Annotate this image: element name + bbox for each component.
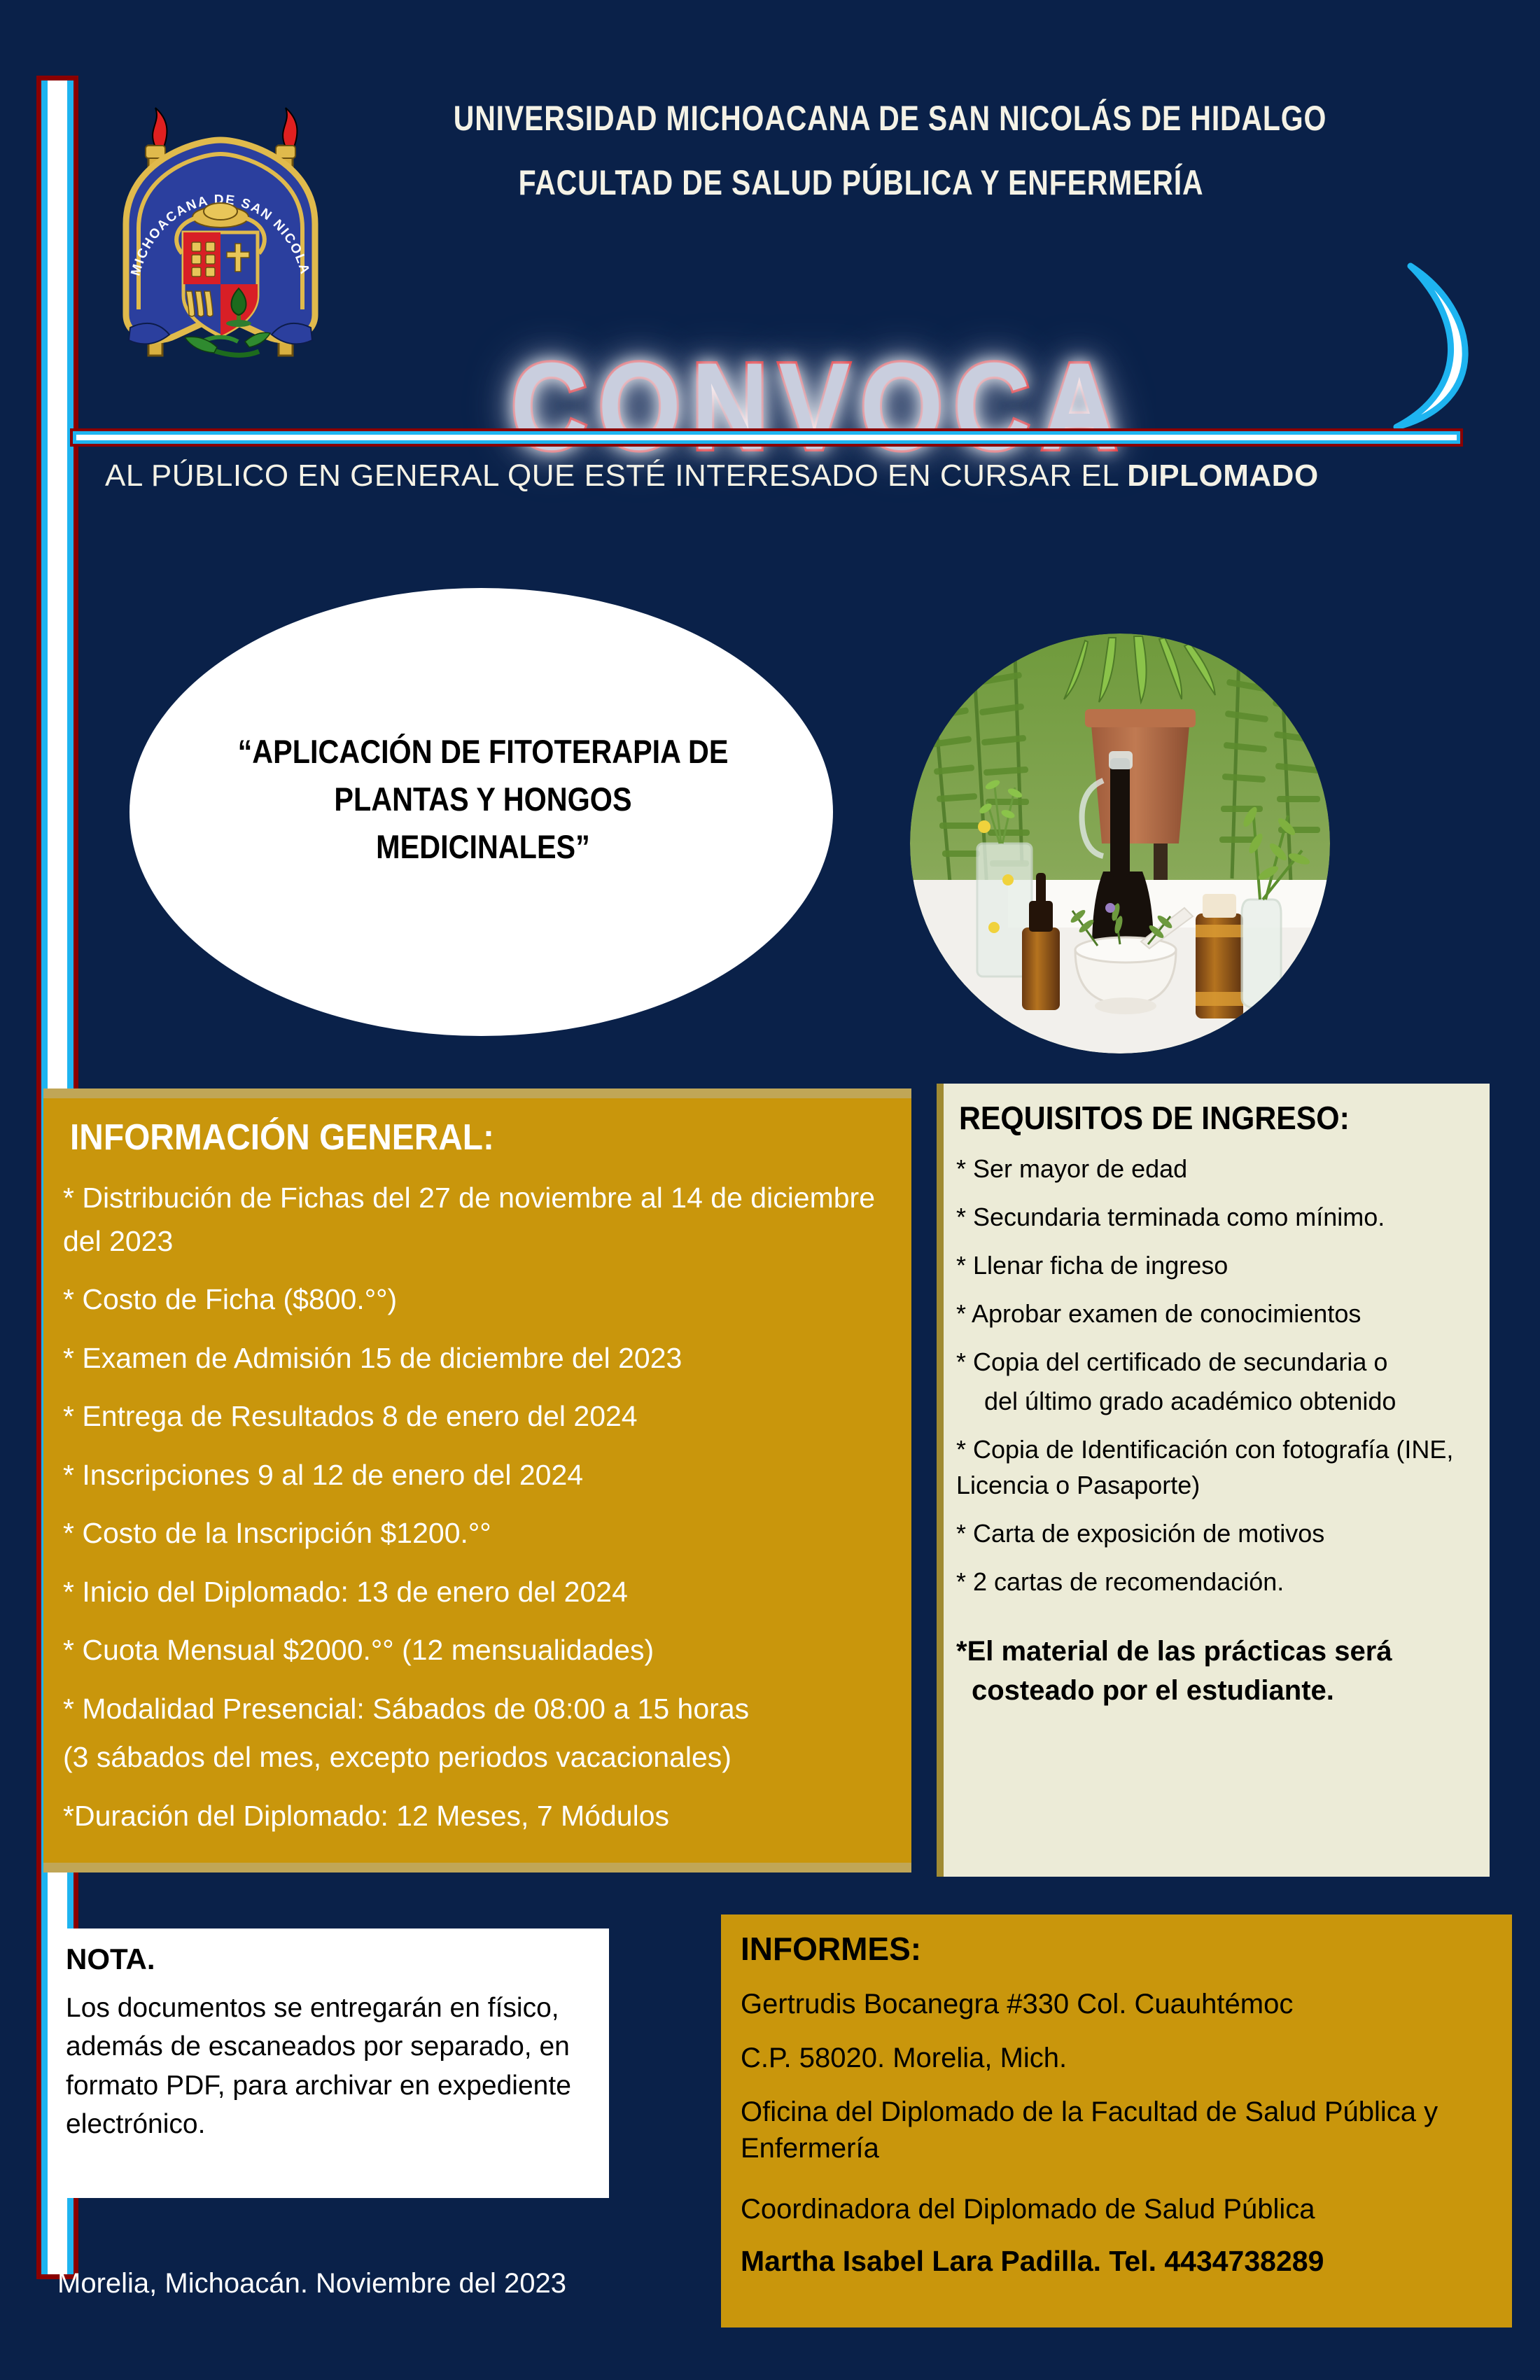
subtitle-strong: DIPLOMADO [1127, 458, 1318, 493]
requirement-item: * Carta de exposición de motivos [956, 1515, 1474, 1551]
course-title-line-3: MEDICINALES” [199, 823, 766, 871]
general-info-item: * Distribución de Fichas del 27 de novie… [63, 1177, 892, 1263]
general-info-item: (3 sábados del mes, excepto periodos vac… [63, 1736, 892, 1779]
general-info-item: *Duración del Diplomado: 12 Meses, 7 Mód… [63, 1795, 892, 1838]
footer-place-date: Morelia, Michoacán. Noviembre del 2023 [57, 2268, 566, 2299]
requirement-item: * Copia del certificado de secundaria o [956, 1344, 1474, 1380]
informes-office: Oficina del Diplomado de la Facultad de … [741, 2094, 1492, 2168]
course-photo [910, 633, 1330, 1053]
general-info-item: * Inscripciones 9 al 12 de enero del 202… [63, 1454, 892, 1497]
informes-contact: Martha Isabel Lara Padilla. Tel. 4434738… [741, 2245, 1492, 2278]
requirement-item: * 2 cartas de recomendación. [956, 1564, 1474, 1599]
nota-body: Los documentos se entregarán en físico, … [66, 1989, 592, 2144]
general-info-item: * Modalidad Presencial: Sábados de 08:00… [63, 1688, 892, 1731]
informes-box: INFORMES: Gertrudis Bocanegra #330 Col. … [721, 1914, 1512, 2327]
general-info-panel: INFORMACIÓN GENERAL: * Distribución de F… [43, 1088, 911, 1872]
university-seal-icon: UNIVERSIDAD MICHOACANA DE SAN NICOLAS DE… [105, 105, 336, 399]
university-name: UNIVERSIDAD MICHOACANA DE SAN NICOLÁS DE… [454, 98, 1268, 139]
highlight-line-2: costeado por el estudiante. [972, 1671, 1474, 1710]
poster-header: UNIVERSIDAD MICHOACANA DE SAN NICOLAS DE… [0, 77, 1540, 427]
nota-heading: NOTA. [66, 1942, 592, 1976]
requirements-highlight: *El material de las prácticas será coste… [956, 1632, 1474, 1710]
highlight-line-1: *El material de las prácticas será [956, 1636, 1392, 1667]
institution-titles: UNIVERSIDAD MICHOACANA DE SAN NICOLÁS DE… [364, 98, 1358, 203]
requirements-heading: REQUISITOS DE INGRESO: [959, 1099, 1438, 1137]
requirement-item: * Ser mayor de edad [956, 1151, 1474, 1186]
course-title-line-1: “APLICACIÓN DE FITOTERAPIA DE [199, 728, 766, 776]
nota-box: NOTA. Los documentos se entregarán en fí… [49, 1928, 609, 2198]
subtitle-prefix: AL PÚBLICO EN GENERAL QUE ESTÉ INTERESAD… [105, 458, 1127, 493]
informes-postal: C.P. 58020. Morelia, Mich. [741, 2040, 1492, 2077]
poster-canvas: UNIVERSIDAD MICHOACANA DE SAN NICOLAS DE… [0, 0, 1540, 2380]
informes-heading: INFORMES: [741, 1930, 1492, 1968]
requirement-item: del último grado académico obtenido [984, 1383, 1474, 1419]
informes-role: Coordinadora del Diplomado de Salud Públ… [741, 2191, 1492, 2228]
general-info-item: * Inicio del Diplomado: 13 de enero del … [63, 1571, 892, 1614]
header-divider [70, 428, 1463, 447]
general-info-item: * Cuota Mensual $2000.°° (12 mensualidad… [63, 1629, 892, 1672]
audience-subtitle: AL PÚBLICO EN GENERAL QUE ESTÉ INTERESAD… [105, 458, 1456, 493]
general-info-heading: INFORMACIÓN GENERAL: [70, 1116, 826, 1158]
course-title-line-2: PLANTAS Y HONGOS [199, 776, 766, 823]
requirements-panel: REQUISITOS DE INGRESO: * Ser mayor de ed… [937, 1084, 1490, 1877]
requirement-item: * Aprobar examen de conocimientos [956, 1296, 1474, 1331]
informes-address: Gertrudis Bocanegra #330 Col. Cuauhtémoc [741, 1986, 1492, 2023]
divider-white [76, 435, 1457, 440]
requirement-item: * Llenar ficha de ingreso [956, 1247, 1474, 1283]
course-title: “APLICACIÓN DE FITOTERAPIA DE PLANTAS Y … [199, 728, 766, 871]
requirement-item: * Secundaria terminada como mínimo. [956, 1199, 1474, 1235]
general-info-item: * Costo de la Inscripción $1200.°° [63, 1512, 892, 1555]
convoca-title: CONVOCA [510, 344, 1128, 468]
requirement-item: * Copia de Identificación con fotografía… [956, 1431, 1474, 1503]
general-info-item: * Entrega de Resultados 8 de enero del 2… [63, 1395, 892, 1438]
faculty-name: FACULTAD DE SALUD PÚBLICA Y ENFERMERÍA [454, 162, 1268, 203]
general-info-item: * Costo de Ficha ($800.°°) [63, 1278, 892, 1322]
general-info-item: * Examen de Admisión 15 de diciembre del… [63, 1337, 892, 1380]
